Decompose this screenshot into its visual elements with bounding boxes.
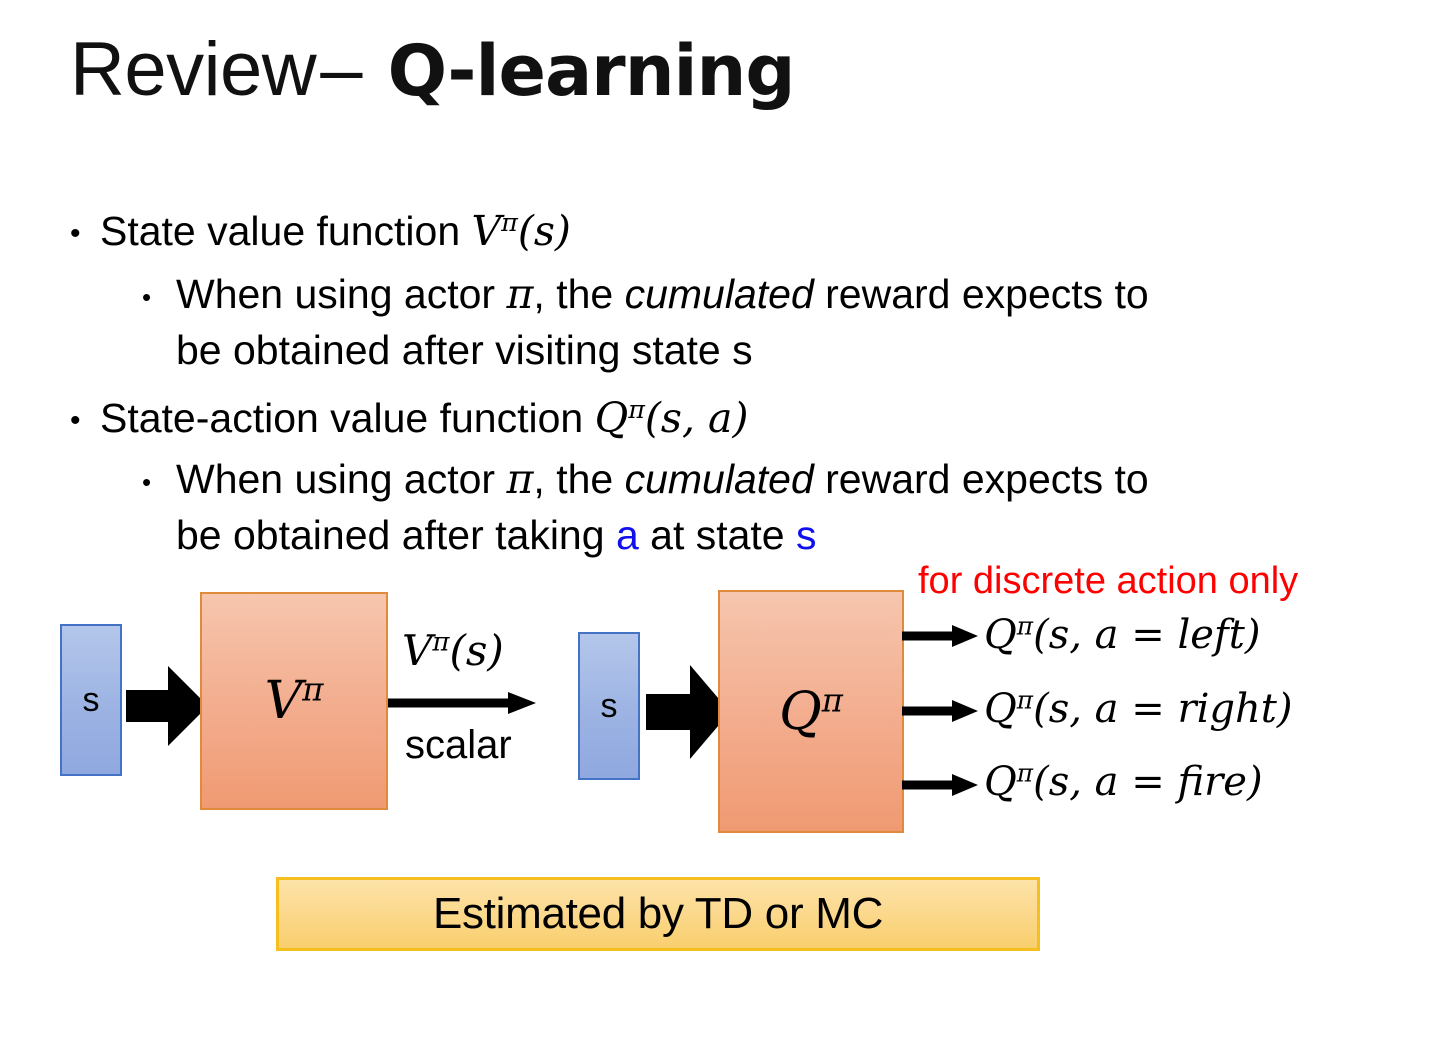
v-output-arrow-icon bbox=[388, 690, 538, 716]
q-function-label: Qπ bbox=[779, 682, 843, 742]
discrete-action-note: for discrete action only bbox=[918, 560, 1298, 603]
v-output-label: Vπ(s) bbox=[402, 626, 504, 675]
v-branch-state-input-box: s bbox=[60, 624, 122, 776]
q-branch-state-input-box: s bbox=[578, 632, 640, 780]
slide-canvas: Review– Q-learning •State value function… bbox=[0, 0, 1442, 1038]
v-function-label: Vπ bbox=[265, 671, 324, 731]
q-branch-state-label: s bbox=[601, 687, 618, 726]
estimated-by-banner: Estimated by TD or MC bbox=[276, 877, 1040, 951]
v-branch-state-label: s bbox=[83, 681, 100, 720]
q-output-label-right: Qπ(s, a = right) bbox=[984, 686, 1292, 732]
v-output-scalar-label: scalar bbox=[405, 723, 512, 768]
q-output-label-left: Qπ(s, a = left) bbox=[984, 612, 1260, 658]
q-output-arrow-icon-fire bbox=[902, 773, 980, 797]
q-output-arrow-icon-left bbox=[902, 624, 980, 648]
estimated-by-label: Estimated by TD or MC bbox=[433, 889, 883, 939]
q-function-box: Qπ bbox=[718, 590, 904, 833]
v-function-box: Vπ bbox=[200, 592, 388, 810]
v-branch-input-arrow-icon bbox=[126, 664, 210, 748]
q-output-label-fire: Qπ(s, a = fire) bbox=[984, 759, 1263, 805]
q-output-arrow-icon-right bbox=[902, 699, 980, 723]
